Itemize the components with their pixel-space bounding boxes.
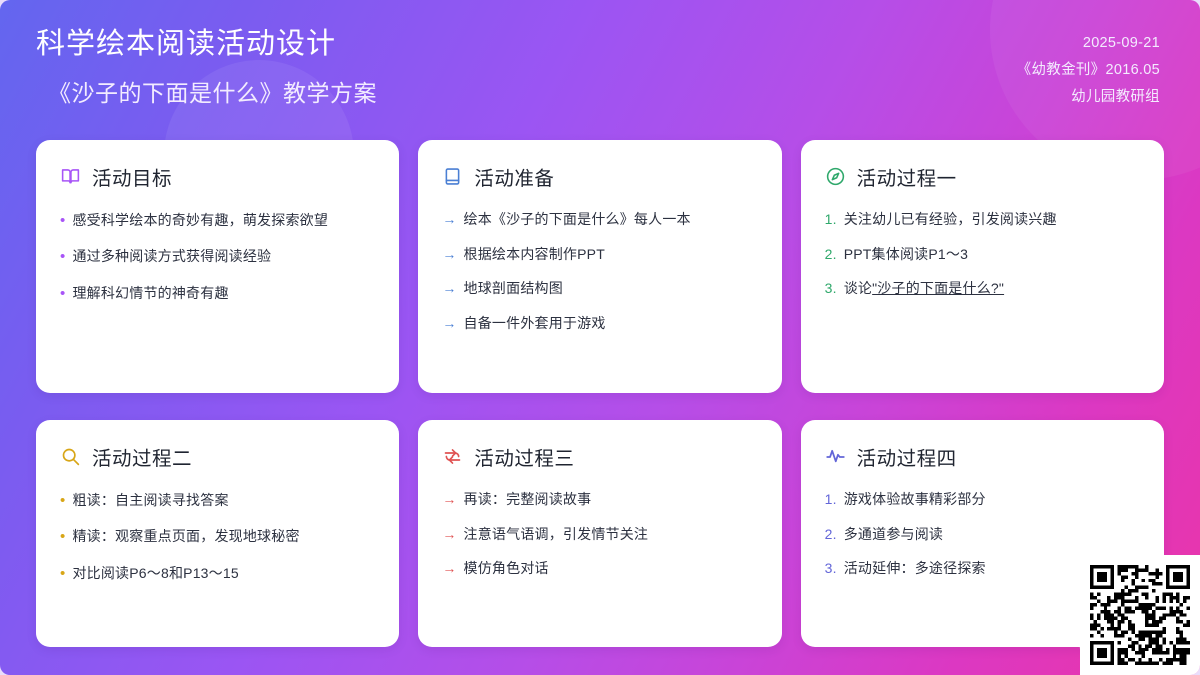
card-activity-process-two: 活动过程二•粗读：自主阅读寻找答案•精读：观察重点页面，发现地球秘密•对比阅读P… bbox=[36, 420, 399, 647]
list-item-text: 理解科幻情节的神奇有趣 bbox=[72, 283, 228, 305]
list-item: →地球剖面结构图 bbox=[442, 278, 757, 300]
refresh-cycle-icon bbox=[442, 446, 463, 467]
list-item-marker: • bbox=[60, 209, 65, 232]
card-header: 活动过程三 bbox=[442, 442, 757, 471]
list-item-text: 模仿角色对话 bbox=[464, 558, 549, 580]
card-item-list: →再读：完整阅读故事→注意语气语调，引发情节关注→模仿角色对话 bbox=[442, 489, 757, 580]
list-item-marker: • bbox=[60, 525, 65, 548]
compass-icon bbox=[825, 166, 846, 187]
list-item-marker: → bbox=[442, 489, 456, 511]
list-item-text: 自备一件外套用于游戏 bbox=[464, 313, 606, 335]
list-item-text: 注意语气语调，引发情节关注 bbox=[464, 524, 649, 546]
list-item-marker: → bbox=[442, 278, 456, 300]
card-header: 活动过程二 bbox=[60, 442, 375, 471]
list-item-text: 感受科学绘本的奇妙有趣，萌发探索欲望 bbox=[72, 210, 328, 232]
list-item-marker: 1. bbox=[825, 489, 837, 511]
list-item-marker: • bbox=[60, 282, 65, 305]
card-item-list: →绘本《沙子的下面是什么》每人一本→根据绘本内容制作PPT→地球剖面结构图→自备… bbox=[442, 209, 757, 335]
list-item: →注意语气语调，引发情节关注 bbox=[442, 524, 757, 546]
list-item: →绘本《沙子的下面是什么》每人一本 bbox=[442, 209, 757, 231]
card-title: 活动过程三 bbox=[474, 442, 574, 471]
list-item-text-plain: 谈论 bbox=[844, 280, 872, 296]
card-header: 活动过程一 bbox=[825, 162, 1140, 191]
list-item-text: PPT集体阅读P1～3 bbox=[844, 244, 968, 266]
card-title: 活动目标 bbox=[92, 162, 172, 191]
list-item: •感受科学绘本的奇妙有趣，萌发探索欲望 bbox=[60, 209, 375, 232]
activity-pulse-icon bbox=[825, 446, 846, 467]
meta-source: 《幼教金刊》2016.05 bbox=[1017, 57, 1160, 84]
list-item: •理解科幻情节的神奇有趣 bbox=[60, 282, 375, 305]
list-item-marker: → bbox=[442, 313, 456, 335]
meta-author: 幼儿园教研组 bbox=[1017, 84, 1160, 111]
list-item-text: 对比阅读P6～8和P13～15 bbox=[72, 563, 238, 585]
list-item-marker: • bbox=[60, 245, 65, 268]
magnifier-icon bbox=[60, 446, 81, 467]
list-item-marker: → bbox=[442, 209, 456, 231]
list-item: •对比阅读P6～8和P13～15 bbox=[60, 562, 375, 585]
card-item-list: 1.关注幼儿已有经验，引发阅读兴趣2.PPT集体阅读P1～33.谈论"沙子的下面… bbox=[825, 209, 1140, 300]
list-item-text: 精读：观察重点页面，发现地球秘密 bbox=[72, 526, 299, 548]
list-item: •通过多种阅读方式获得阅读经验 bbox=[60, 245, 375, 268]
qr-code[interactable] bbox=[1080, 555, 1200, 675]
list-item: 2.多通道参与阅读 bbox=[825, 524, 1140, 546]
list-item-text[interactable]: 谈论"沙子的下面是什么?" bbox=[844, 278, 1004, 300]
card-item-list: •粗读：自主阅读寻找答案•精读：观察重点页面，发现地球秘密•对比阅读P6～8和P… bbox=[60, 489, 375, 585]
list-item: •粗读：自主阅读寻找答案 bbox=[60, 489, 375, 512]
list-item-text: 绘本《沙子的下面是什么》每人一本 bbox=[464, 209, 691, 231]
list-item-text: 活动延伸：多途径探索 bbox=[844, 558, 986, 580]
slide-header: 科学绘本阅读活动设计 《沙子的下面是什么》教学方案 2025-09-21 《幼教… bbox=[0, 0, 1200, 130]
list-item: 1.关注幼儿已有经验，引发阅读兴趣 bbox=[825, 209, 1140, 231]
card-header: 活动过程四 bbox=[825, 442, 1140, 471]
card-activity-process-one: 活动过程一1.关注幼儿已有经验，引发阅读兴趣2.PPT集体阅读P1～33.谈论"… bbox=[801, 140, 1164, 393]
list-item-marker: 1. bbox=[825, 209, 837, 231]
list-item-text: 多通道参与阅读 bbox=[844, 524, 943, 546]
list-item-marker: → bbox=[442, 524, 456, 546]
card-title: 活动过程一 bbox=[857, 162, 957, 191]
list-item: 1.游戏体验故事精彩部分 bbox=[825, 489, 1140, 511]
page-subtitle: 《沙子的下面是什么》教学方案 bbox=[36, 74, 377, 108]
card-title: 活动过程四 bbox=[857, 442, 957, 471]
card-header: 活动准备 bbox=[442, 162, 757, 191]
list-item: 2.PPT集体阅读P1～3 bbox=[825, 244, 1140, 266]
title-block: 科学绘本阅读活动设计 《沙子的下面是什么》教学方案 bbox=[36, 26, 377, 108]
list-item-marker: • bbox=[60, 489, 65, 512]
qr-code-image bbox=[1090, 565, 1190, 665]
card-activity-goals: 活动目标•感受科学绘本的奇妙有趣，萌发探索欲望•通过多种阅读方式获得阅读经验•理… bbox=[36, 140, 399, 393]
list-item-text: 游戏体验故事精彩部分 bbox=[844, 489, 986, 511]
list-item-text-underlined[interactable]: "沙子的下面是什么?" bbox=[872, 280, 1004, 296]
list-item-text: 地球剖面结构图 bbox=[464, 278, 563, 300]
card-item-list: •感受科学绘本的奇妙有趣，萌发探索欲望•通过多种阅读方式获得阅读经验•理解科幻情… bbox=[60, 209, 375, 305]
book-closed-icon bbox=[442, 166, 463, 187]
list-item: →模仿角色对话 bbox=[442, 558, 757, 580]
card-grid: 活动目标•感受科学绘本的奇妙有趣，萌发探索欲望•通过多种阅读方式获得阅读经验•理… bbox=[36, 140, 1164, 647]
card-activity-preparation: 活动准备→绘本《沙子的下面是什么》每人一本→根据绘本内容制作PPT→地球剖面结构… bbox=[418, 140, 781, 393]
list-item: 3.谈论"沙子的下面是什么?" bbox=[825, 278, 1140, 300]
page-title: 科学绘本阅读活动设计 bbox=[36, 26, 377, 62]
list-item: →根据绘本内容制作PPT bbox=[442, 244, 757, 266]
list-item-text: 粗读：自主阅读寻找答案 bbox=[72, 490, 228, 512]
list-item: •精读：观察重点页面，发现地球秘密 bbox=[60, 525, 375, 548]
meta-date: 2025-09-21 bbox=[1017, 30, 1160, 57]
open-book-icon bbox=[60, 166, 81, 187]
list-item-marker: 3. bbox=[825, 558, 837, 580]
list-item-marker: • bbox=[60, 562, 65, 585]
card-header: 活动目标 bbox=[60, 162, 375, 191]
card-activity-process-three: 活动过程三→再读：完整阅读故事→注意语气语调，引发情节关注→模仿角色对话 bbox=[418, 420, 781, 647]
list-item-marker: → bbox=[442, 558, 456, 580]
list-item-text: 根据绘本内容制作PPT bbox=[464, 244, 605, 266]
slide-canvas: 科学绘本阅读活动设计 《沙子的下面是什么》教学方案 2025-09-21 《幼教… bbox=[0, 0, 1200, 675]
meta-block: 2025-09-21 《幼教金刊》2016.05 幼儿园教研组 bbox=[1017, 26, 1160, 110]
list-item-text: 通过多种阅读方式获得阅读经验 bbox=[72, 246, 271, 268]
list-item-text: 关注幼儿已有经验，引发阅读兴趣 bbox=[844, 209, 1057, 231]
list-item-marker: 2. bbox=[825, 244, 837, 266]
list-item: →自备一件外套用于游戏 bbox=[442, 313, 757, 335]
list-item-marker: 2. bbox=[825, 524, 837, 546]
card-title: 活动过程二 bbox=[92, 442, 192, 471]
list-item: →再读：完整阅读故事 bbox=[442, 489, 757, 511]
list-item-text: 再读：完整阅读故事 bbox=[464, 489, 592, 511]
list-item-marker: → bbox=[442, 244, 456, 266]
card-title: 活动准备 bbox=[474, 162, 554, 191]
list-item-marker: 3. bbox=[825, 278, 837, 300]
